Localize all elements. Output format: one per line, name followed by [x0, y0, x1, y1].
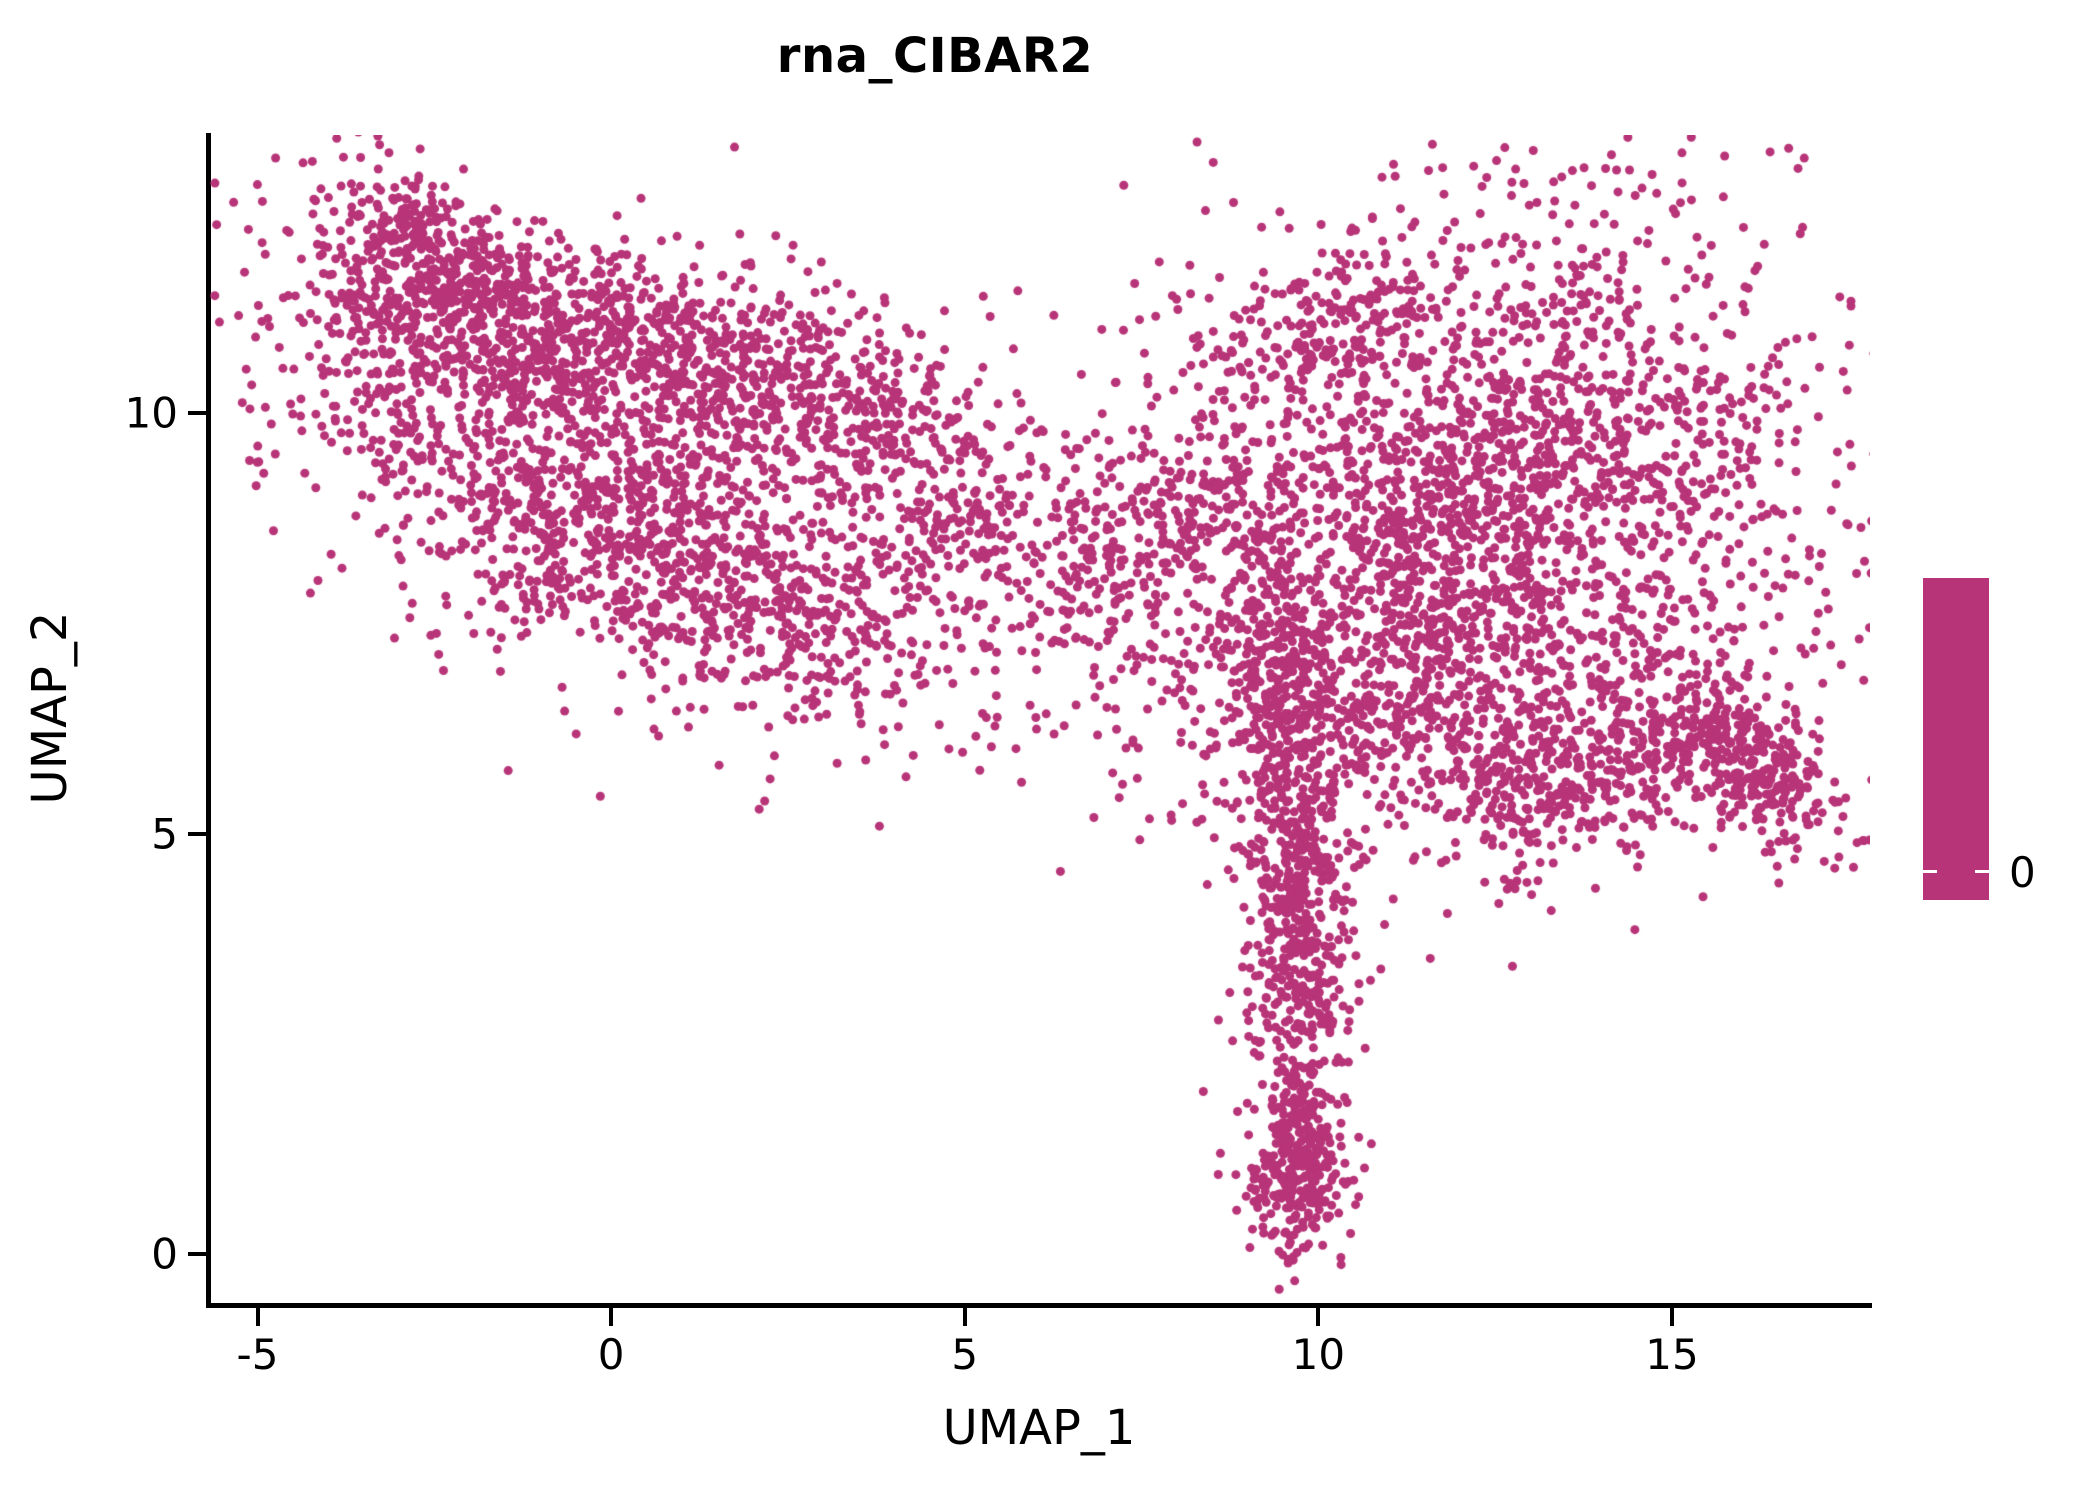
x-tick-mark: [609, 1308, 613, 1326]
x-tick-mark: [256, 1308, 260, 1326]
colorbar-group: 0: [1923, 578, 1989, 900]
y-axis-label: UMAP_2: [22, 398, 78, 1018]
colorbar[interactable]: [1923, 578, 1989, 900]
x-tick-label: 5: [951, 1330, 978, 1379]
page-title: rna_CIBAR2: [0, 28, 1870, 84]
scatter-plot-area: [208, 135, 1870, 1305]
x-tick-mark: [963, 1308, 967, 1326]
colorbar-tick-left: [1923, 870, 1937, 873]
y-tick-mark: [188, 832, 206, 836]
y-tick-label: 5: [151, 809, 178, 858]
x-tick-mark: [1316, 1308, 1320, 1326]
y-tick-label: 0: [151, 1230, 178, 1279]
x-tick-label: -5: [237, 1330, 279, 1379]
colorbar-gradient: [1923, 578, 1989, 900]
x-tick-label: 10: [1292, 1330, 1345, 1379]
y-tick-label: 10: [125, 388, 178, 437]
x-axis-label: UMAP_1: [208, 1400, 1870, 1456]
colorbar-tick-label: 0: [2009, 848, 2036, 897]
x-tick-mark: [1670, 1308, 1674, 1326]
scatter-canvas: [208, 135, 1870, 1305]
y-tick-mark: [188, 1252, 206, 1256]
figure-root: rna_CIBAR2 0510 UMAP_1 UMAP_2 0 -5051015: [0, 0, 2100, 1500]
x-tick-label: 0: [598, 1330, 625, 1379]
y-tick-mark: [188, 411, 206, 415]
x-tick-label: 15: [1645, 1330, 1698, 1379]
colorbar-tick-right: [1975, 870, 1989, 873]
